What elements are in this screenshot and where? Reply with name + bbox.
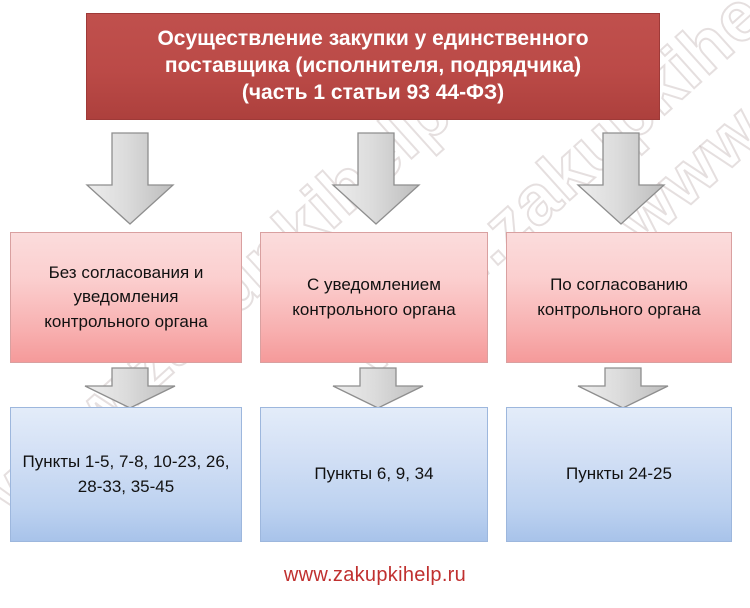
result-box-2: Пункты 6, 9, 34 — [260, 407, 488, 542]
option-box-1: Без согласования и уведомления контрольн… — [10, 232, 242, 363]
result-box-3: Пункты 24-25 — [506, 407, 732, 542]
option-label-1: Без согласования и уведомления контрольн… — [11, 261, 241, 335]
option-label-2: С уведомлением контрольного органа — [284, 273, 463, 322]
arrow-down-header-to-option-3 — [575, 131, 667, 227]
option-box-3: По согласованию контрольного органа — [506, 232, 732, 363]
result-label-3: Пункты 24-25 — [556, 462, 682, 487]
arrow-down-option-to-result-2 — [330, 366, 426, 411]
diagram-canvas: www.zakupkihelp.ru www.zakupkihelp.ru ww… — [0, 0, 750, 608]
header-title: Осуществление закупки у единственного по… — [87, 26, 659, 107]
arrow-down-option-to-result-1 — [82, 366, 178, 411]
arrow-down-option-to-result-3 — [575, 366, 671, 411]
option-label-3: По согласованию контрольного органа — [529, 273, 708, 322]
header-box: Осуществление закупки у единственного по… — [86, 13, 660, 120]
result-label-1: Пункты 1-5, 7-8, 10-23, 26, 28-33, 35-45 — [11, 450, 241, 499]
footer-url: www.zakupkihelp.ru — [0, 564, 750, 587]
option-box-2: С уведомлением контрольного органа — [260, 232, 488, 363]
result-box-1: Пункты 1-5, 7-8, 10-23, 26, 28-33, 35-45 — [10, 407, 242, 542]
result-label-2: Пункты 6, 9, 34 — [304, 462, 443, 487]
arrow-down-header-to-option-2 — [330, 131, 422, 227]
arrow-down-header-to-option-1 — [84, 131, 176, 227]
